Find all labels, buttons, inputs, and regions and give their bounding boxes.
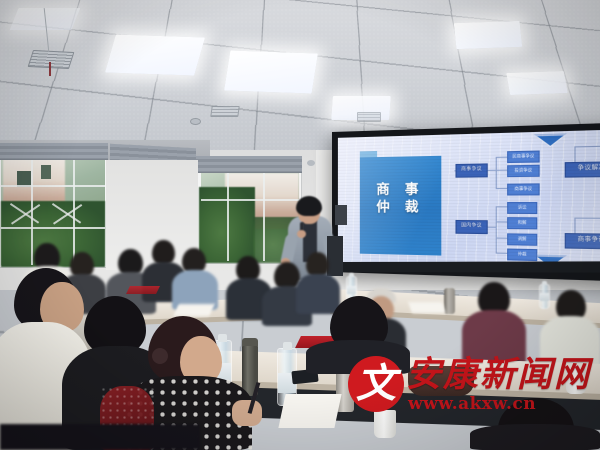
red-folder <box>126 286 160 294</box>
ceiling-panel-light <box>105 34 205 75</box>
window-blind <box>196 156 302 173</box>
attendee-hair-tie <box>152 348 168 364</box>
ceiling-panel-light <box>224 50 318 93</box>
ceiling-pipe-mark <box>49 62 51 76</box>
watermark-url: www.akxw.cn <box>408 394 536 414</box>
bottle-label <box>347 286 356 294</box>
window-grille <box>227 173 229 261</box>
security-camera-icon <box>307 160 315 166</box>
window-grille <box>263 173 265 261</box>
ceiling-air-vent <box>28 50 75 69</box>
wall-speaker-box <box>335 205 347 225</box>
bottle-cap <box>349 273 354 277</box>
notebook <box>173 304 214 316</box>
bottle-cap <box>542 281 547 285</box>
slide-scanline-overlay <box>338 129 600 272</box>
bottle-cap <box>283 342 292 350</box>
ceiling-panel-light <box>454 21 522 49</box>
thermos-flask <box>444 288 455 314</box>
window-grille <box>201 199 299 201</box>
watermark-site-name: 安康新闻网 <box>406 354 591 396</box>
watermark: 文 安康新闻网 www.akxw.cn <box>348 352 600 418</box>
water-bottle <box>539 284 550 309</box>
notepad <box>278 394 341 428</box>
bottle-label <box>540 293 549 301</box>
led-display-screen[interactable]: 商 事 仲 裁 商事争议 民商事争议 投资争议 商事争议 国内争 <box>332 122 600 281</box>
foreground-shadow <box>0 424 200 450</box>
notebook <box>408 302 446 313</box>
attendee-body <box>470 424 600 450</box>
watermark-logo-glyph: 文 <box>348 356 404 412</box>
av-equipment-rack <box>327 236 343 276</box>
ceiling-air-vent <box>210 106 240 117</box>
speaker-hair <box>296 196 322 216</box>
smoke-detector-icon <box>190 118 201 125</box>
bottle-cap <box>218 334 227 342</box>
attendee-hand <box>232 400 262 426</box>
speaker-hand <box>297 230 306 238</box>
exterior-window-dark <box>41 165 51 179</box>
ceiling-air-vent <box>357 112 381 122</box>
attendee-body <box>296 274 340 314</box>
window-grille <box>1 185 105 187</box>
screenshot-root: 商 事 仲 裁 商事争议 民商事争议 投资争议 商事争议 国内争 <box>0 0 600 450</box>
presentation-slide: 商 事 仲 裁 商事争议 民商事争议 投资争议 商事争议 国内争 <box>338 129 600 272</box>
window-grille <box>1 227 105 229</box>
window-blind <box>0 143 108 160</box>
screen-lower-bezel <box>336 261 600 272</box>
ceiling-panel-light <box>506 71 568 95</box>
thermos-lid <box>242 338 258 346</box>
